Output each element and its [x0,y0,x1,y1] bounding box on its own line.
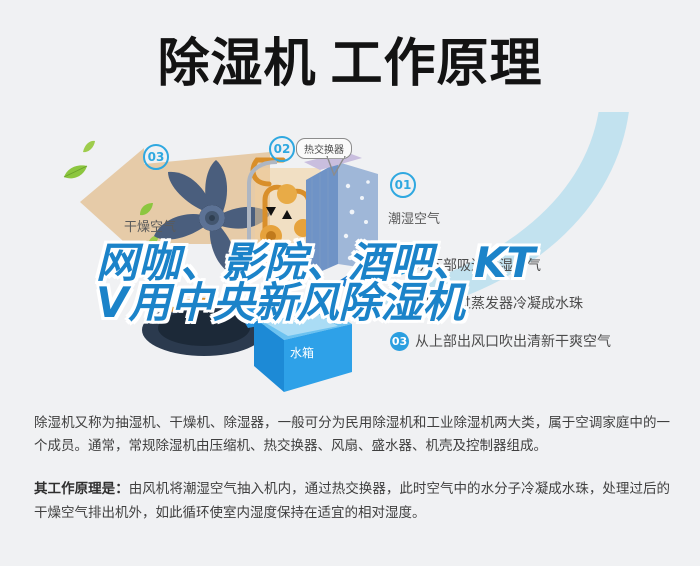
overlay-headline: 网咖、影院、酒吧、KT V用中央新风除湿机 [96,243,616,323]
step-text: 从上部出风口吹出清新干爽空气 [415,331,611,351]
water-tank-label: 水箱 [290,344,314,361]
leaf-icon [62,164,88,182]
page-title: 除湿机工作原理 [0,28,700,100]
paragraph-2: 其工作原理是：由风机将潮湿空气抽入机内，通过热交换器，此时空气中的水分子冷凝成水… [34,478,670,524]
title-part-1: 除湿机 [157,34,316,94]
overlay-line-1: 网咖、影院、酒吧、KT [96,243,616,283]
callout-pointer-icon [325,156,347,176]
list-item: 03 从上部出风口吹出清新干爽空气 [390,330,690,352]
paragraph-1: 除湿机又称为抽湿机、干燥机、除湿器，一般可分为民用除湿机和工业除湿机两大类，属于… [34,412,670,458]
marker-01-icon: 01 [390,172,416,198]
moist-air-label: 潮湿空气 [388,208,440,227]
title-part-2: 工作原理 [331,34,543,94]
marker-02-icon: 02 [269,136,295,162]
infographic-page: 除湿机工作原理 [0,0,700,566]
dry-air-label: 干燥空气 [124,216,176,235]
body-copy: 除湿机又称为抽湿机、干燥机、除湿器，一般可分为民用除湿机和工业除湿机两大类，属于… [34,412,670,545]
step-badge: 03 [390,332,409,351]
marker-03-icon: 03 [143,144,169,170]
paragraph-2-lead: 其工作原理是： [34,481,129,497]
overlay-line-2: V用中央新风除湿机 [96,283,616,323]
leaf-icon [82,140,96,154]
paragraph-2-rest: 由风机将潮湿空气抽入机内，通过热交换器，此时空气中的水分子冷凝成水珠，处理过后的… [34,481,670,520]
